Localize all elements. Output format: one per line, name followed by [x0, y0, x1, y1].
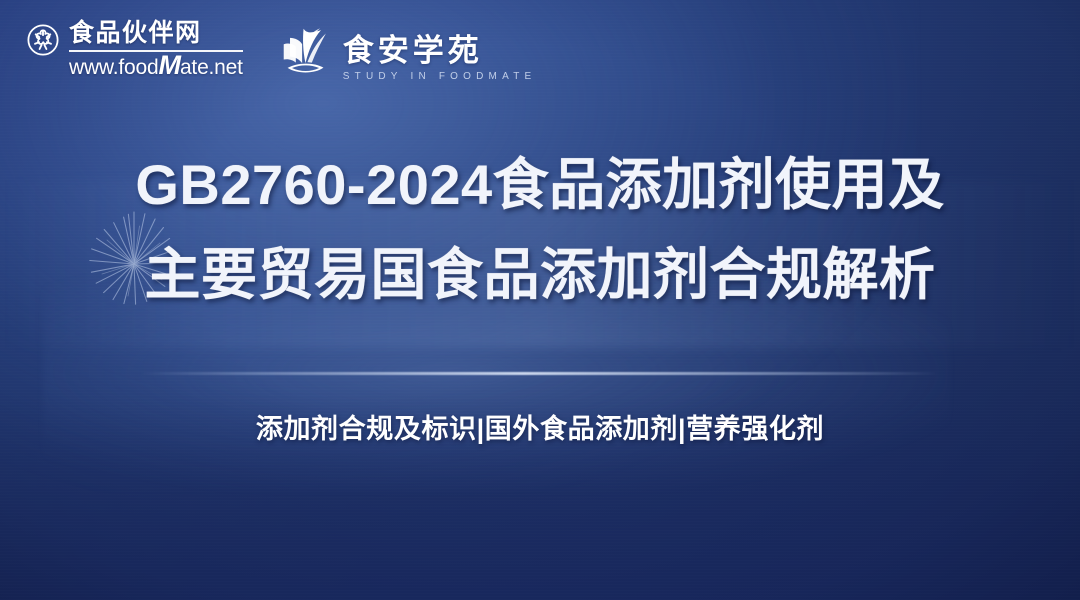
- open-book-leaf-icon: [275, 19, 337, 81]
- logo-foodmate-url: www.foodMate.net: [69, 54, 243, 79]
- headline-line-1: GB2760-2024食品添加剂使用及: [0, 140, 1080, 230]
- subtitle-text: 添加剂合规及标识|国外食品添加剂|营养强化剂: [0, 407, 1080, 446]
- logo-url-accent-m: M: [158, 50, 180, 80]
- logo-foodmate-rule: [69, 50, 243, 52]
- logo-study-name-en: STUDY IN FOODMATE: [343, 70, 537, 84]
- headline: GB2760-2024食品添加剂使用及 主要贸易国食品添加剂合规解析: [0, 140, 1080, 320]
- subtitle-section: 添加剂合规及标识|国外食品添加剂|营养强化剂: [0, 372, 1080, 446]
- logo-study-in-foodmate[interactable]: 食安学苑 STUDY IN FOODMATE: [275, 18, 537, 84]
- logo-url-prefix: www.food: [69, 56, 158, 79]
- course-promo-banner: 食品伙伴网 www.foodMate.net 食安学苑 STUDY IN F: [0, 0, 1080, 600]
- logo-bar: 食品伙伴网 www.foodMate.net 食安学苑 STUDY IN F: [26, 18, 536, 84]
- headline-line-2: 主要贸易国食品添加剂合规解析: [0, 230, 1080, 320]
- logo-foodmate[interactable]: 食品伙伴网 www.foodMate.net: [26, 18, 243, 79]
- logo-url-suffix: ate.net: [180, 56, 243, 79]
- subtitle-divider: [140, 372, 940, 375]
- foodmate-flower-circle-icon: [26, 23, 60, 57]
- logo-foodmate-name-cn: 食品伙伴网: [69, 20, 243, 47]
- logo-study-name-cn: 食安学苑: [343, 34, 537, 67]
